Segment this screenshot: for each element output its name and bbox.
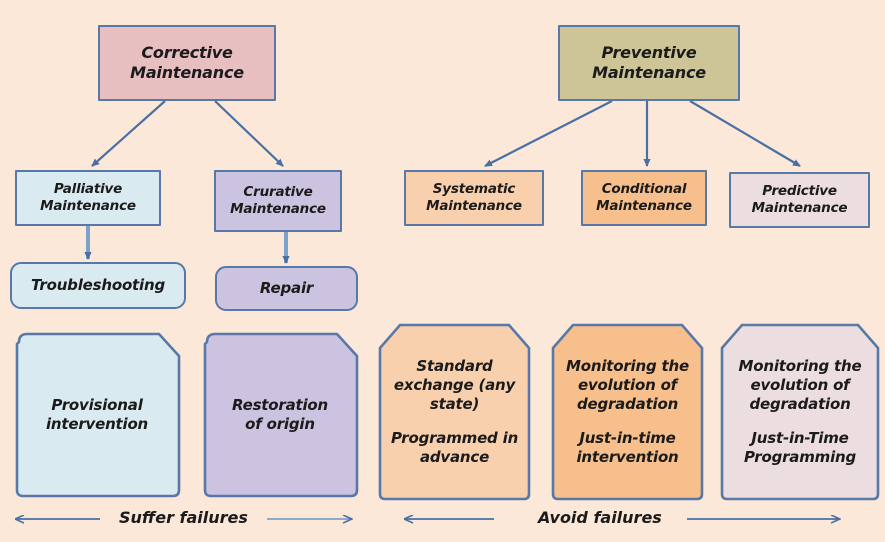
edge-preventive-to-systematic	[485, 101, 612, 166]
tag-label: Monitoring the evolution of degradation …	[718, 322, 882, 502]
tag-line: Monitoring the evolution of degradation	[566, 357, 689, 415]
diagram-canvas: Corrective Maintenance Preventive Mainte…	[0, 0, 885, 542]
tag-line: Provisional intervention	[46, 396, 148, 434]
tag-line: Just-in-Time Programming	[744, 429, 856, 467]
node-preventive-maintenance[interactable]: Preventive Maintenance	[558, 25, 740, 101]
node-conditional-maintenance[interactable]: Conditional Maintenance	[581, 170, 707, 226]
axis-label-avoid-failures: Avoid failures	[538, 508, 662, 527]
tag-line: Restoration of origin	[232, 396, 328, 434]
node-monitoring-jit-intervention[interactable]: Monitoring the evolution of degradation …	[549, 322, 706, 502]
edge-corrective-to-curative	[215, 101, 283, 166]
tag-line: Monitoring the evolution of degradation	[739, 357, 862, 415]
tag-line: Just-in-time intervention	[576, 429, 678, 467]
axis-label-suffer-failures: Suffer failures	[119, 508, 248, 527]
node-systematic-maintenance[interactable]: Systematic Maintenance	[404, 170, 544, 226]
edge-corrective-to-palliative	[92, 101, 165, 166]
node-predictive-maintenance[interactable]: Predictive Maintenance	[729, 172, 870, 228]
node-standard-exchange[interactable]: Standard exchange (any state) Programmed…	[376, 322, 533, 502]
node-label: Systematic Maintenance	[406, 181, 542, 216]
tag-label: Standard exchange (any state) Programmed…	[376, 322, 533, 502]
tag-line: Standard exchange (any state)	[394, 357, 515, 415]
tag-label: Restoration of origin	[201, 332, 359, 498]
tag-label: Provisional intervention	[13, 332, 181, 498]
node-monitoring-jit-programming[interactable]: Monitoring the evolution of degradation …	[718, 322, 882, 502]
node-repair[interactable]: Repair	[215, 266, 358, 311]
node-troubleshooting[interactable]: Troubleshooting	[10, 262, 186, 309]
node-label: Palliative Maintenance	[17, 181, 159, 216]
node-provisional-intervention[interactable]: Provisional intervention	[13, 332, 181, 498]
node-label: Crurative Maintenance	[216, 184, 340, 219]
node-label: Predictive Maintenance	[731, 183, 868, 218]
node-curative-maintenance[interactable]: Crurative Maintenance	[214, 170, 342, 232]
node-label: Conditional Maintenance	[583, 181, 705, 216]
tag-label: Monitoring the evolution of degradation …	[549, 322, 706, 502]
node-label: Troubleshooting	[12, 276, 184, 295]
node-corrective-maintenance[interactable]: Corrective Maintenance	[98, 25, 276, 101]
node-palliative-maintenance[interactable]: Palliative Maintenance	[15, 170, 161, 226]
node-label: Preventive Maintenance	[560, 43, 738, 84]
node-label: Corrective Maintenance	[100, 43, 274, 84]
node-label: Repair	[217, 279, 356, 298]
node-restoration-of-origin[interactable]: Restoration of origin	[201, 332, 359, 498]
edge-preventive-to-predictive	[690, 101, 800, 166]
tag-line: Programmed in advance	[391, 429, 518, 467]
